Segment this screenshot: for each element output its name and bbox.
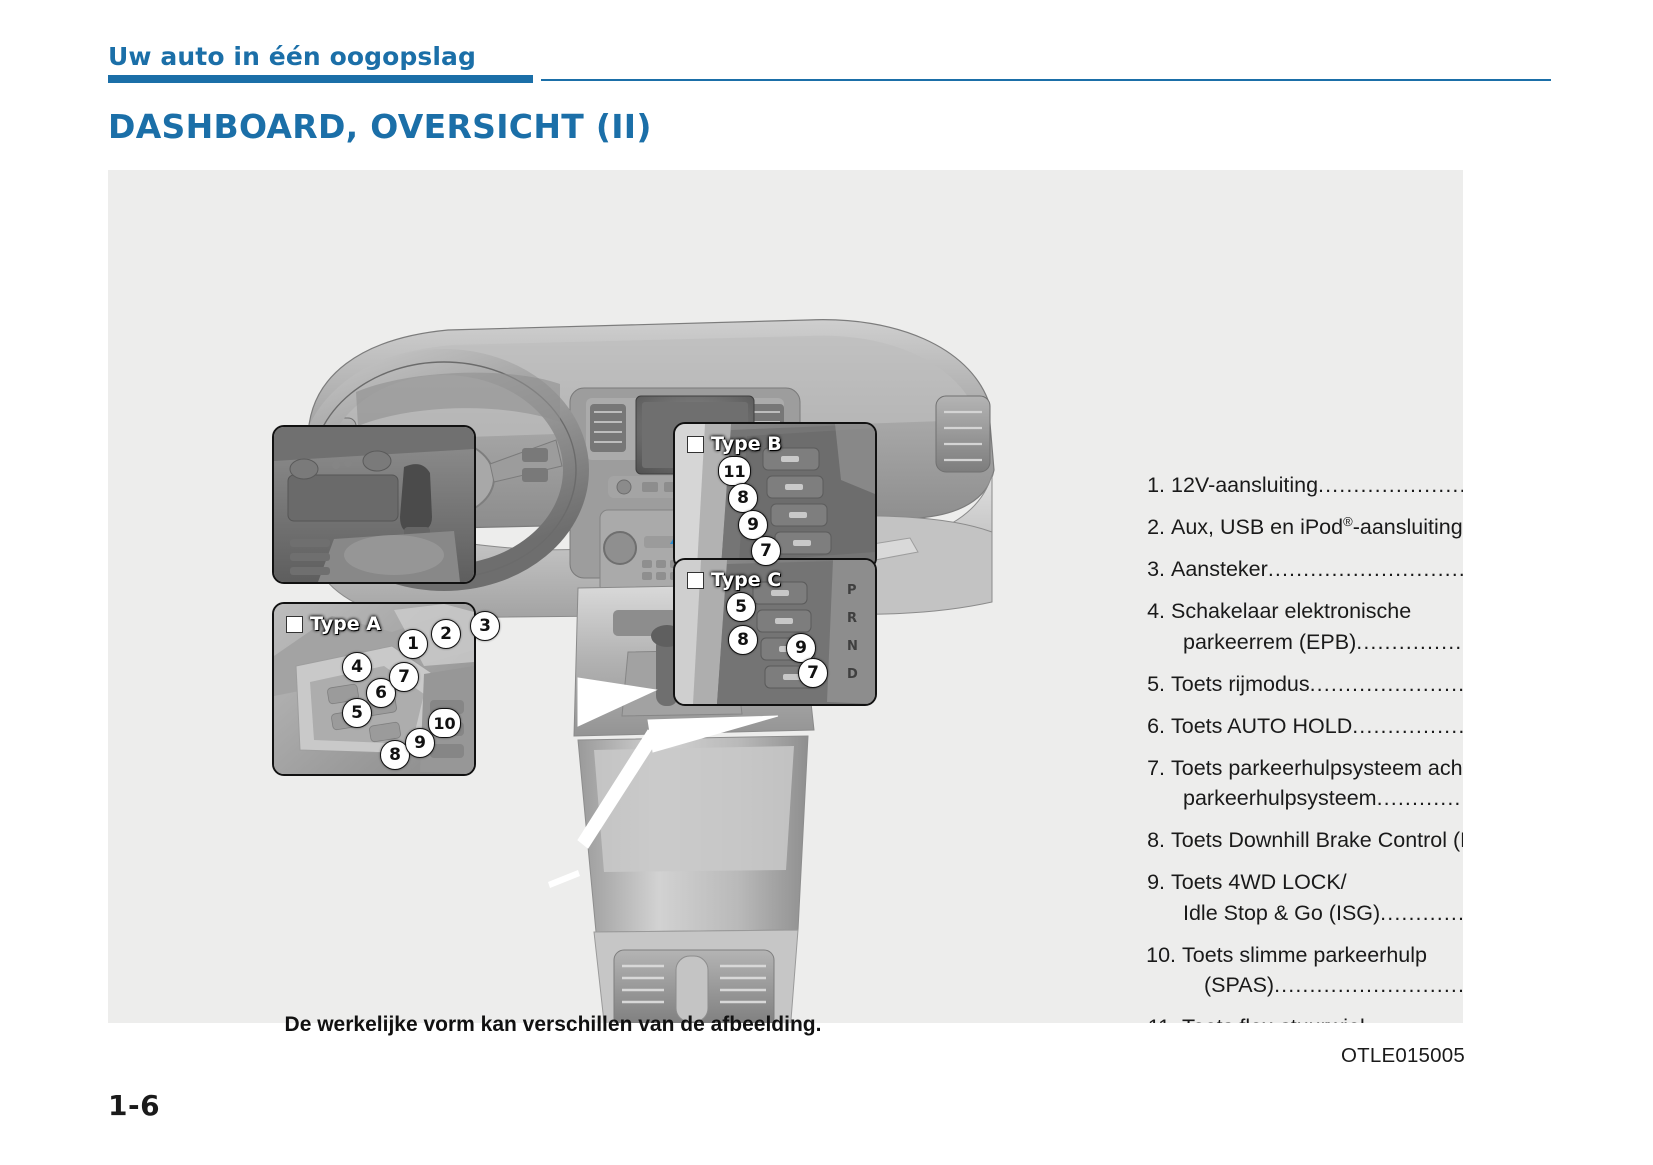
legend-item-9: 9. Toets 4WD LOCK/ Idle Stop & Go (ISG) … (1143, 867, 1463, 928)
legend-number: 5. (1143, 669, 1171, 700)
svg-text:P: P (847, 583, 857, 598)
legend-dots: ........................................… (1365, 1012, 1463, 1023)
legend-label: Schakelaar elektronische (1171, 596, 1411, 627)
callout-marker-8c: 8 (728, 625, 758, 655)
legend-dots: ........................................… (1318, 470, 1463, 501)
legend-label-line2: (SPAS) (1204, 970, 1274, 1001)
running-head-rule (541, 79, 1551, 81)
type-a-square-icon (286, 616, 303, 633)
legend-label: Aansteker (1171, 554, 1268, 585)
legend-dots: ........................................… (1274, 970, 1463, 1001)
legend-number: 10. (1143, 940, 1182, 1001)
legend-item-10: 10. Toets slimme parkeerhulp (SPAS) ....… (1143, 940, 1463, 1001)
callout-marker-7b: 7 (751, 536, 781, 566)
inset-manual-shifter-image (274, 427, 474, 582)
legend-item-2: 2. Aux, USB en iPod®-aansluiting .......… (1143, 512, 1463, 543)
legend-number: 11. (1143, 1012, 1182, 1023)
legend-number: 1. (1143, 470, 1171, 501)
figure-code: OTLE015005 (1341, 1044, 1465, 1068)
legend-item-3: 3. Aansteker ...........................… (1143, 554, 1463, 585)
legend-dots: ........................................… (1352, 711, 1463, 742)
legend-label: Toets rijmodus (1171, 669, 1310, 700)
legend-item-7: 7. Toets parkeerhulpsysteem achter/ park… (1143, 753, 1463, 814)
callout-marker-8b: 8 (728, 483, 758, 513)
callout-marker-3: 3 (470, 611, 500, 641)
legend-label: Toets parkeerhulpsysteem achter/ (1171, 753, 1463, 784)
callout-marker-11: 11 (718, 456, 751, 486)
running-head: Uw auto in één oogopslag (108, 42, 1548, 82)
page-number: 1-6 (108, 1089, 160, 1122)
legend-label: Toets flex-stuurwiel (1182, 1012, 1365, 1023)
legend-item-8: 8. Toets Downhill Brake Control (DBC) ..… (1143, 825, 1463, 856)
legend-label: Toets slimme parkeerhulp (1182, 940, 1427, 971)
inset-type-c: P R N D Type C (673, 558, 877, 706)
inset-type-a-label: Type A (286, 613, 381, 635)
legend-label-line2: parkeerrem (EPB) (1183, 627, 1356, 658)
legend-list: 1. 12V-aansluiting .....................… (1143, 470, 1463, 1023)
legend-dots: ........................................… (1380, 898, 1463, 929)
legend-number: 2. (1143, 512, 1171, 543)
legend-number: 6. (1143, 711, 1171, 742)
legend-label: Toets 4WD LOCK/ (1171, 867, 1347, 898)
callout-marker-7a: 7 (389, 662, 419, 692)
svg-text:R: R (847, 611, 857, 626)
legend-number: 7. (1143, 753, 1171, 814)
callout-marker-1: 1 (398, 629, 428, 659)
legend-label-line2: parkeerhulpsysteem (1183, 783, 1377, 814)
inset-manual-shifter: 1 (272, 425, 476, 584)
legend-label: Toets AUTO HOLD (1171, 711, 1352, 742)
callout-marker-4: 4 (342, 652, 372, 682)
legend-number: 3. (1143, 554, 1171, 585)
legend-item-11: 11. Toets flex-stuurwiel ...............… (1143, 1012, 1463, 1023)
legend-item-5: 5. Toets rijmodus ......................… (1143, 669, 1463, 700)
running-head-bar (108, 75, 533, 83)
inset-type-c-label: Type C (687, 569, 781, 591)
legend-label: Toets Downhill Brake Control (DBC) (1171, 825, 1463, 856)
legend-dots: ........................................… (1268, 554, 1463, 585)
legend-number: 4. (1143, 596, 1171, 657)
svg-text:D: D (847, 667, 858, 682)
legend-label-pre: Aux, USB en iPod (1171, 515, 1343, 539)
running-head-text: Uw auto in één oogopslag (108, 42, 476, 71)
registered-icon: ® (1343, 514, 1353, 529)
callout-marker-10: 10 (428, 708, 461, 738)
callout-marker-5: 5 (342, 698, 372, 728)
inset-type-b-label: Type B (687, 433, 782, 455)
legend-number: 9. (1143, 867, 1171, 928)
svg-text:N: N (847, 639, 858, 654)
legend-dots: ........................................… (1310, 669, 1463, 700)
callout-marker-2: 2 (431, 619, 461, 649)
legend-item-4: 4. Schakelaar elektronische parkeerrem (… (1143, 596, 1463, 657)
legend-label: 12V-aansluiting (1171, 470, 1318, 501)
page-title: DASHBOARD, OVERSICHT (II) (108, 107, 652, 146)
legend-dots: .................................. (1377, 783, 1463, 814)
legend-item-1: 1. 12V-aansluiting .....................… (1143, 470, 1463, 501)
callout-marker-7c: 7 (798, 658, 828, 688)
legend-label-post: -aansluiting (1353, 515, 1463, 539)
legend-number: 8. (1143, 825, 1171, 856)
callout-marker-5c: 5 (726, 592, 756, 622)
type-c-square-icon (687, 572, 704, 589)
type-b-square-icon (687, 436, 704, 453)
legend-item-6: 6. Toets AUTO HOLD .....................… (1143, 711, 1463, 742)
legend-label-line2: Idle Stop & Go (ISG) (1183, 898, 1380, 929)
figure-panel: 1 1 2 3 (108, 170, 1463, 1023)
figure-caption: De werkelijke vorm kan verschillen van d… (108, 1013, 998, 1037)
legend-dots: ........................................… (1356, 627, 1463, 658)
legend-label: Aux, USB en iPod®-aansluiting (1171, 512, 1463, 543)
